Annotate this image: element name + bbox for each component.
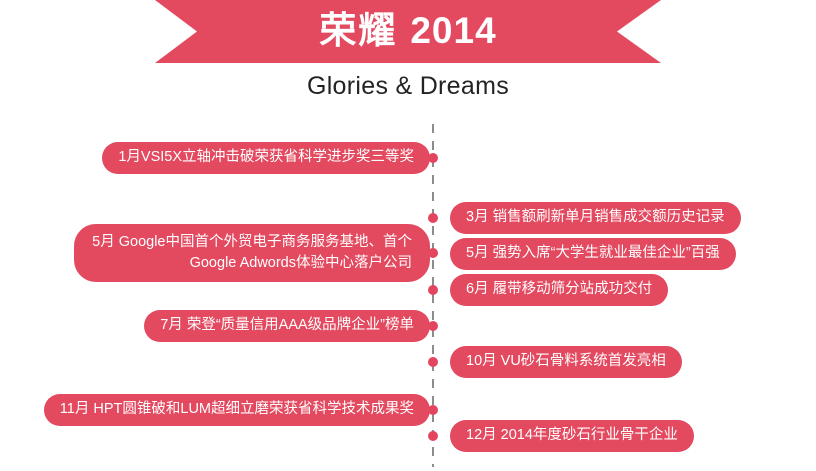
ribbon-title-cn: 荣耀	[319, 12, 397, 51]
milestone-pill-may-left-line1: 5月 Google中国首个外贸电子商务服务基地、首个	[92, 232, 412, 253]
milestone-pill-jan[interactable]: 1月VSI5X立轴冲击破荣获省科学进步奖三等奖	[102, 142, 430, 174]
timeline: 1月VSI5X立轴冲击破荣获省科学进步奖三等奖 3月 销售额刷新单月销售成交额历…	[0, 120, 816, 471]
ribbon-right-notch	[617, 0, 661, 63]
milestone-pill-mar[interactable]: 3月 销售额刷新单月销售成交额历史记录	[450, 202, 741, 234]
milestone-pill-oct[interactable]: 10月 VU砂石骨料系统首发亮相	[450, 346, 682, 378]
ribbon-title-year: 2014	[410, 12, 496, 51]
header-ribbon: 荣耀 2014	[0, 0, 816, 63]
timeline-axis	[432, 124, 434, 467]
timeline-dot	[428, 431, 438, 441]
ribbon-title-group: 荣耀 2014	[155, 0, 661, 63]
ribbon-shape: 荣耀 2014	[155, 0, 661, 63]
infographic-page: 荣耀 2014 Glories & Dreams 1月VSI5X立轴冲击破荣获省…	[0, 0, 816, 471]
milestone-pill-jul[interactable]: 7月 荣登“质量信用AAA级品牌企业”榜单	[144, 310, 430, 342]
page-subtitle: Glories & Dreams	[0, 72, 816, 101]
timeline-dot	[428, 357, 438, 367]
milestone-pill-dec[interactable]: 12月 2014年度砂石行业骨干企业	[450, 420, 694, 452]
timeline-dot	[428, 213, 438, 223]
timeline-dot	[428, 285, 438, 295]
milestone-pill-jun[interactable]: 6月 履带移动筛分站成功交付	[450, 274, 668, 306]
milestone-pill-may-right[interactable]: 5月 强势入席“大学生就业最佳企业”百强	[450, 238, 736, 270]
milestone-pill-nov[interactable]: 11月 HPT圆锥破和LUM超细立磨荣获省科学技术成果奖	[44, 394, 430, 426]
milestone-pill-may-left-line2: Google Adwords体验中心落户公司	[92, 253, 412, 274]
milestone-pill-may-left[interactable]: 5月 Google中国首个外贸电子商务服务基地、首个 Google Adword…	[74, 224, 430, 282]
